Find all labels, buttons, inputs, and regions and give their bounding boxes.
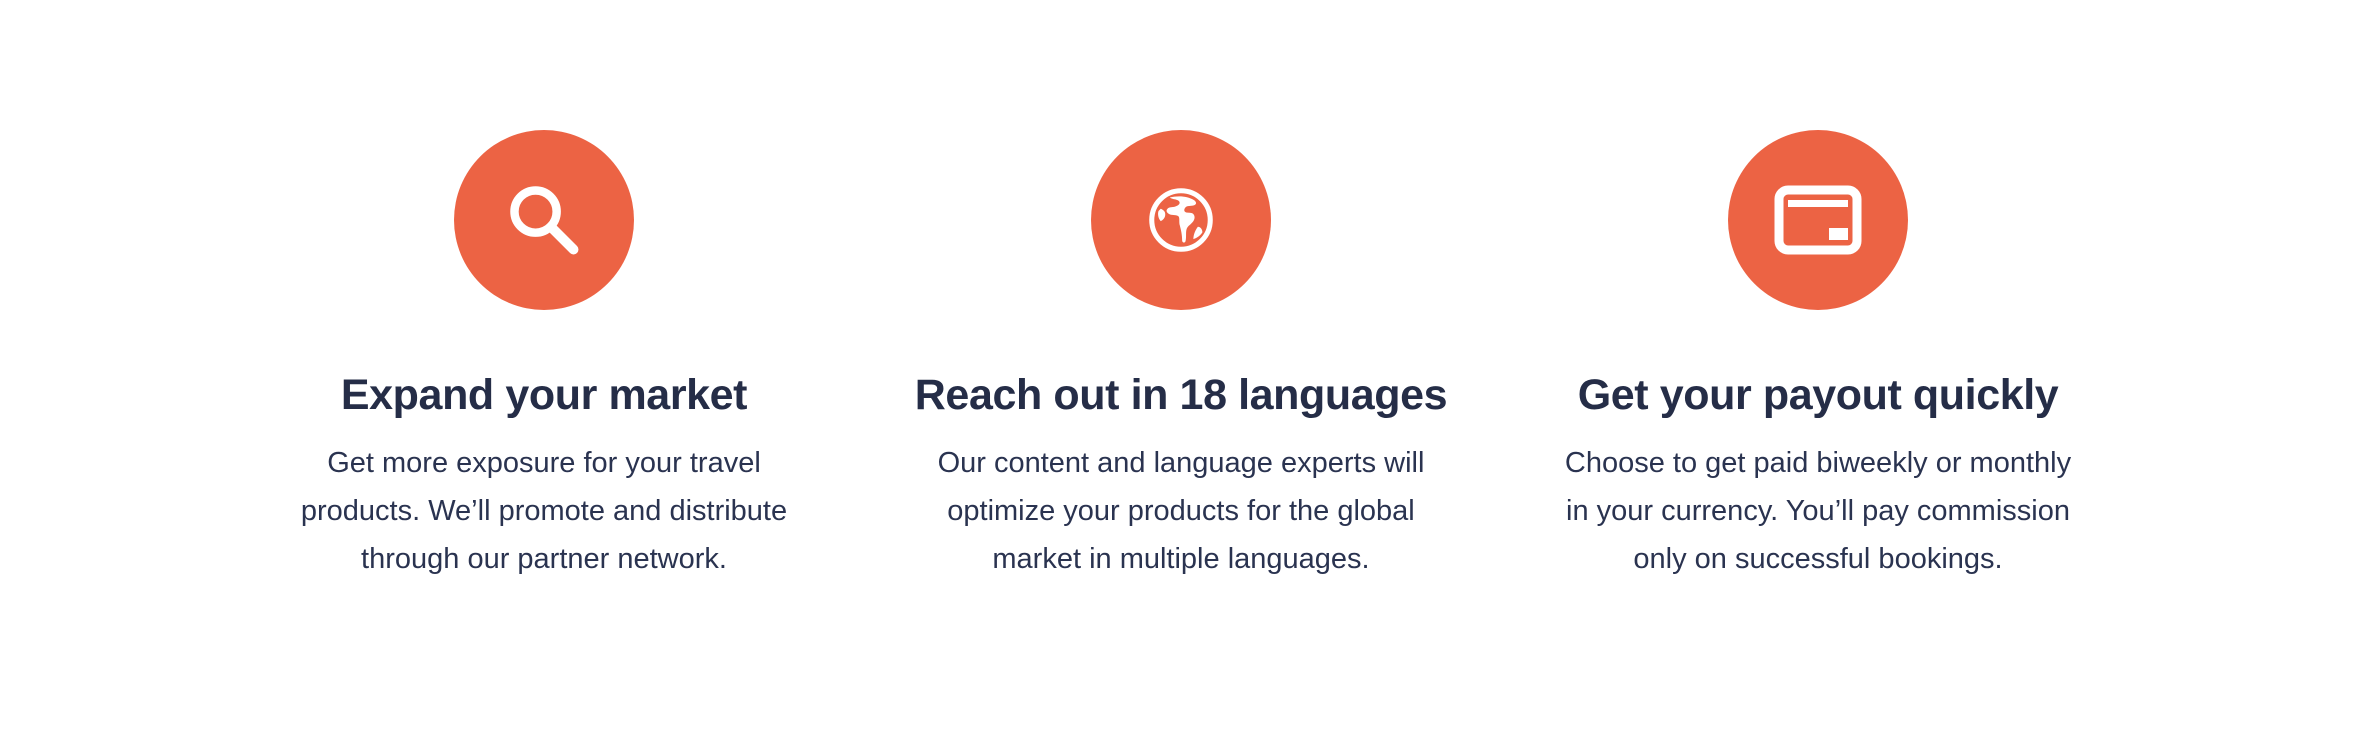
card-body-line: market in multiple languages. [901, 535, 1461, 583]
card-body-line: through our partner network. [264, 535, 824, 583]
card-body-line: Our content and language experts will [901, 439, 1461, 487]
card-body: Our content and language experts will op… [901, 439, 1461, 583]
icon-circle-search [454, 130, 634, 310]
card-body-line: Choose to get paid biweekly or monthly [1538, 439, 2098, 487]
icon-circle-credit-card [1728, 130, 1908, 310]
globe-icon [1145, 184, 1217, 256]
benefit-card-languages: Reach out in 18 languages Our content an… [863, 130, 1500, 583]
card-body-line: only on successful bookings. [1538, 535, 2098, 583]
card-body-line: Get more exposure for your travel [264, 439, 824, 487]
credit-card-icon [1774, 185, 1862, 255]
card-body: Get more exposure for your travel produc… [264, 439, 824, 583]
card-title: Reach out in 18 languages [915, 374, 1447, 417]
card-body-line: products. We’ll promote and distribute [264, 487, 824, 535]
benefits-section: Expand your market Get more exposure for… [0, 0, 2362, 746]
benefit-card-expand-market: Expand your market Get more exposure for… [226, 130, 863, 583]
search-icon [499, 175, 589, 265]
icon-circle-globe [1091, 130, 1271, 310]
benefit-card-payout: Get your payout quickly Choose to get pa… [1500, 130, 2137, 583]
card-title: Expand your market [341, 374, 747, 417]
card-body: Choose to get paid biweekly or monthly i… [1538, 439, 2098, 583]
card-title: Get your payout quickly [1578, 374, 2059, 417]
card-body-line: in your currency. You’ll pay commission [1538, 487, 2098, 535]
card-body-line: optimize your products for the global [901, 487, 1461, 535]
